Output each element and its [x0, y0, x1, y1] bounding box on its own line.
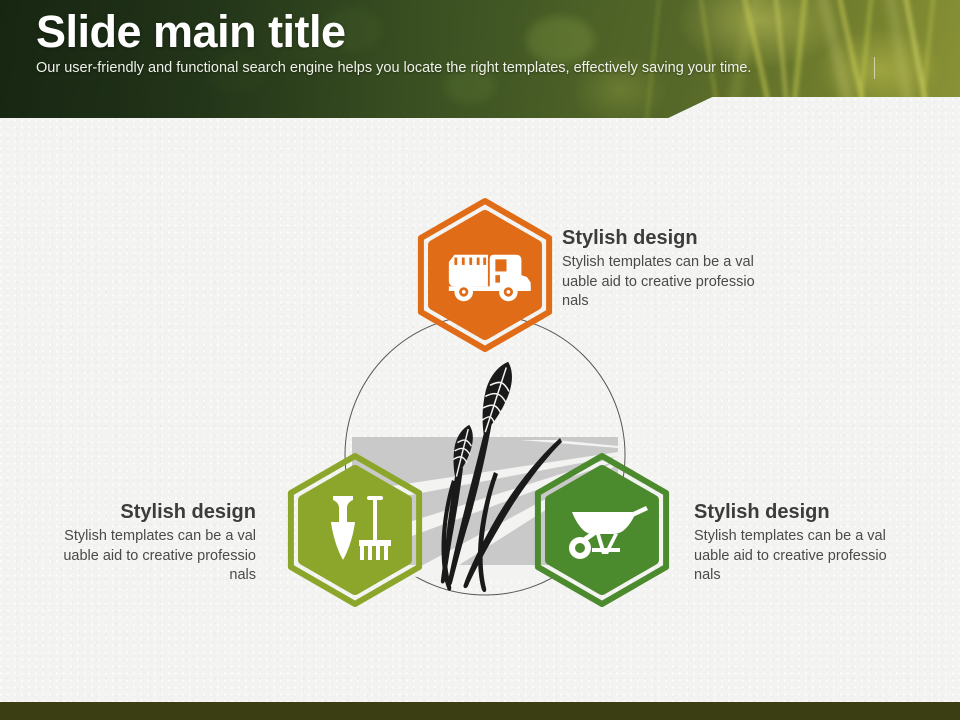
info-block-left: Stylish design Stylish templates can be … [6, 500, 256, 586]
diagram-canvas [0, 120, 960, 702]
info-block-right: Stylish design Stylish templates can be … [694, 500, 946, 586]
info-title-top: Stylish design [562, 226, 812, 250]
info-body-top: Stylish templates can be a val uable aid… [562, 253, 812, 312]
info-body-right: Stylish templates can be a val uable aid… [694, 527, 946, 586]
title-block: Slide main title Our user-friendly and f… [36, 6, 916, 78]
node-top[interactable] [421, 201, 549, 349]
info-body-left: Stylish templates can be a val uable aid… [6, 527, 256, 586]
slide: Slide main title Our user-friendly and f… [0, 0, 960, 720]
info-title-left: Stylish design [6, 500, 256, 524]
subtitle-divider-tick [874, 57, 875, 79]
page-subtitle: Our user-friendly and functional search … [36, 59, 872, 78]
page-title: Slide main title [36, 6, 916, 58]
info-block-top: Stylish design Stylish templates can be … [562, 226, 812, 312]
infographic-diagram [0, 120, 960, 702]
node-left-hex-fill [303, 470, 407, 590]
info-title-right: Stylish design [694, 500, 946, 524]
footer-bar [0, 702, 960, 720]
